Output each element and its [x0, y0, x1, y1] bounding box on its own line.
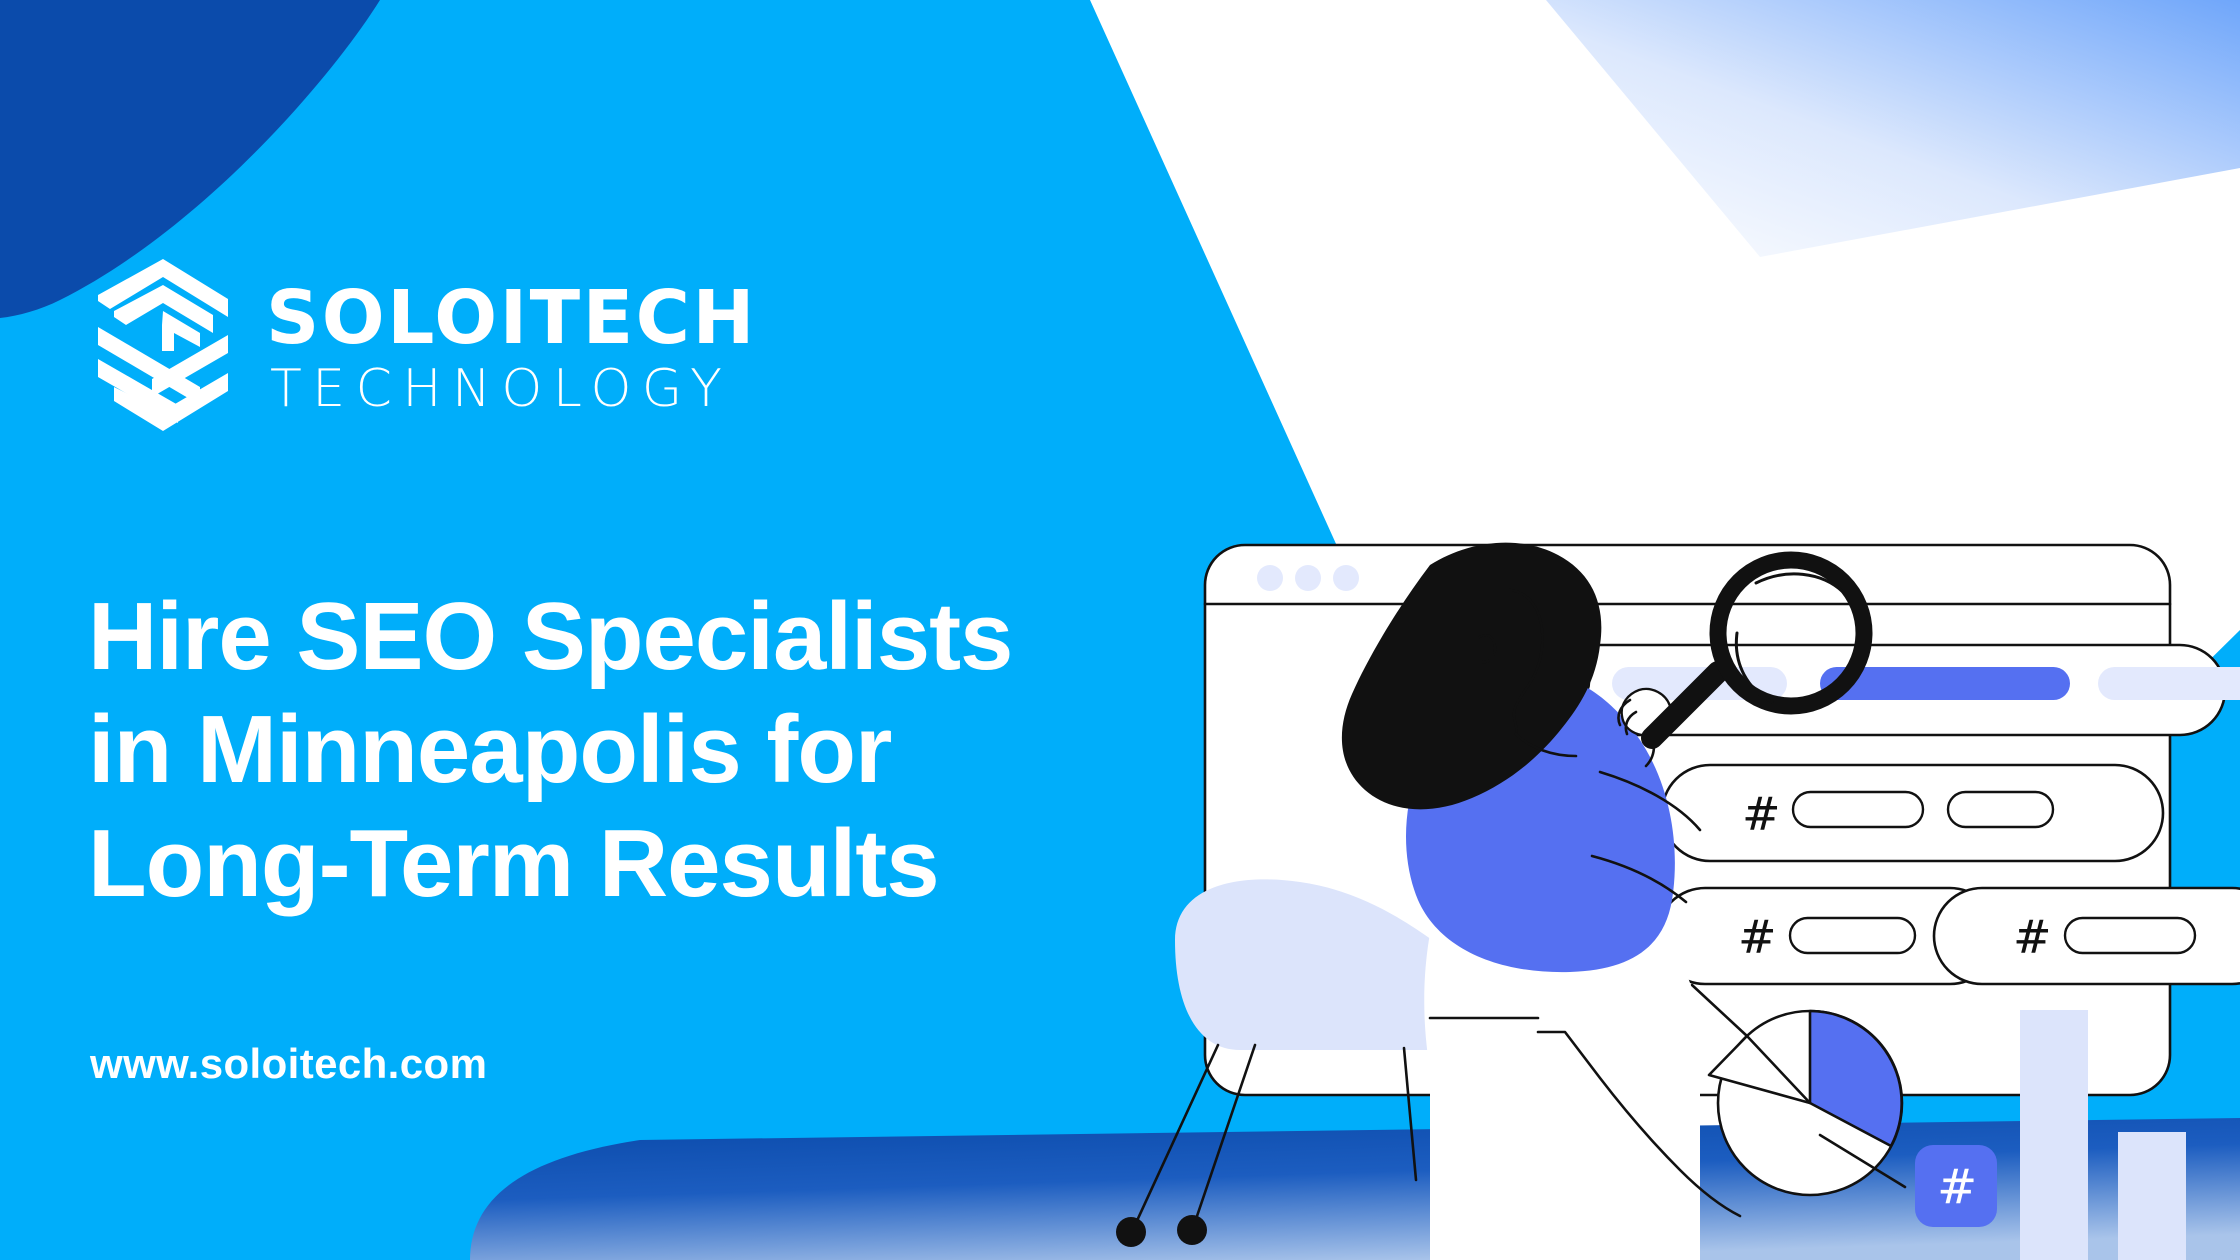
headline-line-3: Long-Term Results [88, 807, 1012, 920]
hash-icon-pill-3: # [2013, 910, 2052, 964]
traffic-dot-3[interactable] [1333, 565, 1359, 591]
brand-name-primary: SOLOITECH [266, 281, 757, 355]
tag-pill-3-bar-1 [2065, 918, 2195, 953]
hash-icon-pill-1: # [1742, 787, 1781, 841]
bar-chart-bar-short [2118, 1132, 2186, 1260]
brand-logo[interactable]: SOLOITECH TECHNOLOGY [88, 255, 757, 440]
hash-icon-badge: # [1937, 1159, 1977, 1215]
soloitech-hexagon-s-logo-icon [88, 255, 238, 440]
traffic-dot-2[interactable] [1295, 565, 1321, 591]
headline: Hire SEO Specialists in Minneapolis for … [88, 580, 1012, 920]
bar-chart-bar-tall [2020, 1010, 2088, 1260]
headline-line-2: in Minneapolis for [88, 693, 1012, 806]
chair-leg-1 [1135, 1045, 1218, 1225]
chair-foot-1 [1116, 1217, 1146, 1247]
tag-pill-2-bar-1 [1790, 918, 1915, 953]
brand-name-secondary: TECHNOLOGY [270, 363, 757, 415]
tag-pill-1-bar-2 [1948, 792, 2053, 827]
tag-pill-1-bar-1 [1793, 792, 1923, 827]
website-url[interactable]: www.soloitech.com [90, 1040, 487, 1088]
brand-wordmark: SOLOITECH TECHNOLOGY [266, 281, 757, 415]
tag-pill-row-1[interactable]: # [1662, 765, 2163, 861]
traffic-dot-1[interactable] [1257, 565, 1283, 591]
hash-icon-pill-2: # [1738, 910, 1777, 964]
search-placeholder-bar-2 [2098, 667, 2240, 700]
marketing-banner: # # # # [0, 0, 2240, 1260]
hash-badge[interactable]: # [1915, 1145, 1997, 1227]
chair-foot-2 [1177, 1215, 1207, 1245]
tag-pill-row-2[interactable]: # # [1657, 888, 2240, 984]
headline-line-1: Hire SEO Specialists [88, 580, 1012, 693]
browser-traffic-dots[interactable] [1257, 565, 1359, 591]
